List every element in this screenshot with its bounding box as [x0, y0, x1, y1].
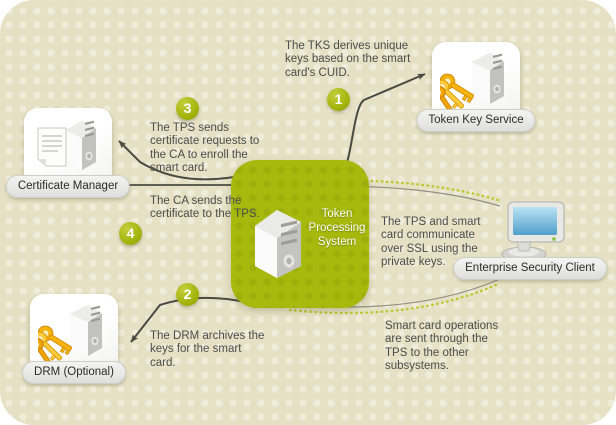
node-certificate-manager[interactable]: Certificate Manager	[24, 108, 112, 186]
node-token-key-service[interactable]: Token Key Service	[432, 42, 520, 120]
step-badge-4: 4	[119, 222, 142, 245]
keys-server-icon	[38, 302, 110, 364]
token-key-service-tile[interactable]: Token Key Service	[432, 42, 520, 120]
connector-tps-to-tks	[340, 74, 425, 172]
diagram-canvas: Token Processing System	[0, 0, 616, 425]
caption-ca-to-tps: The CA sends the certificate to the TPS.	[150, 195, 262, 222]
token-processing-system-label: Token Processing System	[305, 207, 369, 249]
caption-ssl: The TPS and smart card communicate over …	[381, 216, 497, 270]
certificate-manager-label: Certificate Manager	[6, 175, 130, 198]
node-enterprise-security-client[interactable]: Enterprise Security Client	[484, 196, 576, 268]
drm-label: DRM (Optional)	[22, 361, 126, 384]
caption-tps-to-ca: The TPS sends certificate requests to th…	[150, 122, 270, 176]
certificate-manager-tile[interactable]: Certificate Manager	[24, 108, 112, 186]
node-drm[interactable]: DRM (Optional)	[30, 294, 118, 372]
step-badge-1: 1	[327, 88, 350, 111]
token-key-service-label: Token Key Service	[416, 109, 535, 132]
monitor-icon	[492, 196, 568, 266]
caption-operations: Smart card operations are sent through t…	[385, 320, 509, 374]
enterprise-security-client-tile[interactable]: Enterprise Security Client	[484, 196, 576, 268]
keys-server-icon	[440, 50, 512, 112]
token-processing-system-panel[interactable]: Token Processing System	[231, 160, 369, 308]
document-server-icon	[32, 116, 104, 178]
step-badge-2: 2	[176, 283, 199, 306]
caption-tks: The TKS derives unique keys based on the…	[285, 40, 421, 80]
drm-tile[interactable]: DRM (Optional)	[30, 294, 118, 372]
caption-drm: The DRM archives the keys for the smart …	[150, 330, 268, 370]
step-badge-3: 3	[176, 97, 199, 120]
